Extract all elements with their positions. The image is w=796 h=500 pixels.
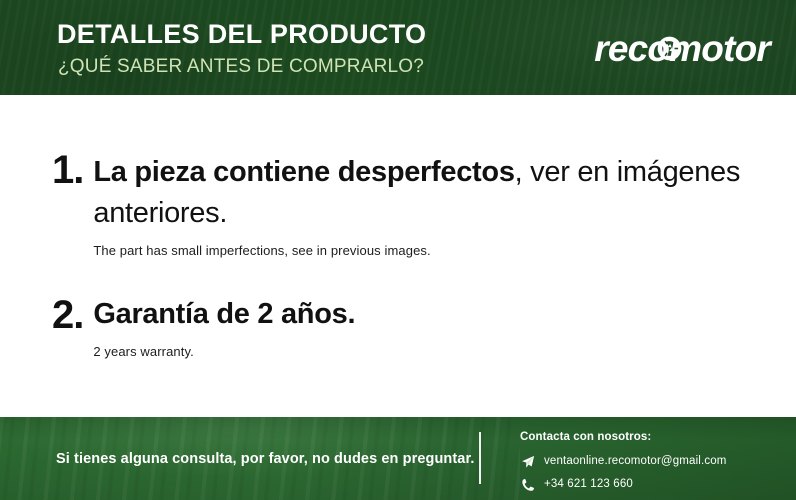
footer-question-note: Si tienes alguna consulta, por favor, no… bbox=[56, 452, 475, 467]
page-subtitle: ¿QUÉ SABER ANTES DE COMPRARLO? bbox=[58, 57, 424, 76]
content-area: 1. La pieza contiene desperfectos, ver e… bbox=[0, 95, 796, 417]
footer-divider bbox=[479, 432, 481, 484]
contact-phone-text: +34 621 123 660 bbox=[544, 479, 633, 491]
detail-item-2-translation: 2 years warranty. bbox=[93, 344, 742, 361]
detail-item-1-body: La pieza contiene desperfectos, ver en i… bbox=[93, 150, 742, 260]
brand-logo: recomotor bbox=[594, 28, 770, 68]
contact-phone-row[interactable]: +34 621 123 660 bbox=[520, 478, 727, 493]
detail-item-2: 2. Garantía de 2 años. 2 years warranty. bbox=[52, 295, 742, 361]
product-details-slide: DETALLES DEL PRODUCTO ¿QUÉ SABER ANTES D… bbox=[0, 0, 796, 500]
detail-item-2-body: Garantía de 2 años. 2 years warranty. bbox=[93, 295, 742, 361]
detail-item-1-headline-strong: La pieza contiene desperfectos bbox=[93, 156, 514, 188]
detail-item-1-translation: The part has small imperfections, see in… bbox=[93, 243, 742, 260]
detail-item-1: 1. La pieza contiene desperfectos, ver e… bbox=[52, 150, 742, 260]
detail-item-1-headline: La pieza contiene desperfectos, ver en i… bbox=[93, 152, 742, 233]
contact-block: Contacta con nosotros: ventaonline.recom… bbox=[520, 432, 727, 500]
detail-item-2-number: 2. bbox=[52, 295, 93, 336]
header-banner: DETALLES DEL PRODUCTO ¿QUÉ SABER ANTES D… bbox=[0, 0, 796, 95]
contact-email-row[interactable]: ventaonline.recomotor@gmail.com bbox=[520, 455, 727, 470]
detail-item-2-headline-strong: Garantía de 2 años. bbox=[93, 298, 355, 330]
phone-icon bbox=[520, 478, 535, 493]
detail-item-1-number: 1. bbox=[52, 150, 93, 191]
detail-item-2-headline: Garantía de 2 años. bbox=[93, 297, 742, 332]
page-title: DETALLES DEL PRODUCTO bbox=[57, 21, 426, 48]
paper-plane-icon bbox=[520, 455, 535, 470]
contact-title: Contacta con nosotros: bbox=[520, 432, 727, 444]
contact-email-text: ventaonline.recomotor@gmail.com bbox=[544, 456, 727, 468]
recycle-circle-icon bbox=[657, 36, 682, 61]
